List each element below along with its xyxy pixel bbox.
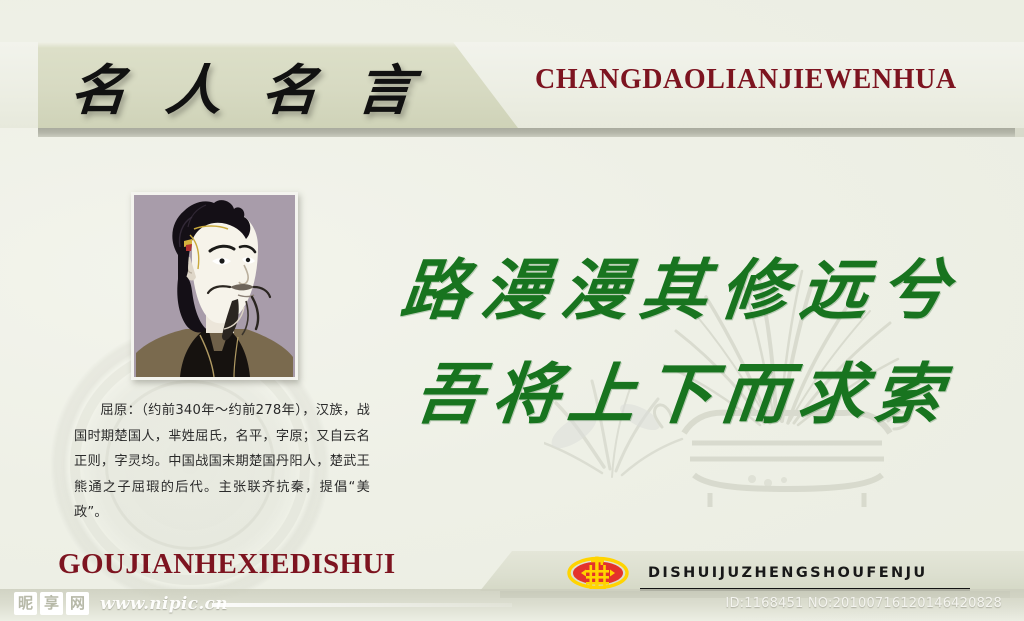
portrait-qu-yuan — [131, 192, 298, 380]
quote1-char-6: 远 — [795, 238, 873, 342]
page-title: 名 人 名 言 — [72, 46, 412, 124]
quote-line-1: 路 漫 漫 其 修 远 兮 — [402, 238, 947, 342]
watermark-char-1: 昵 — [14, 592, 37, 615]
quote2-char-3: 上 — [563, 342, 641, 446]
quote-block: 路 漫 漫 其 修 远 兮 吾 将 上 下 而 求 索 — [402, 238, 947, 446]
quote2-char-5: 而 — [716, 342, 794, 446]
biography-text: 屈原：（约前340年～约前278年），汉族，战国时期楚国人，芈姓屈氏，名平，字原… — [74, 398, 370, 526]
quote2-char-4: 下 — [639, 342, 717, 446]
quote1-char-5: 修 — [715, 238, 793, 342]
watermark-char-3: 网 — [66, 592, 89, 615]
quote1-char-3: 漫 — [556, 238, 634, 342]
header-pinyin: CHANGDAOLIANJIEWENHUA — [535, 64, 957, 96]
quote2-char-6: 求 — [792, 342, 870, 446]
quote2-char-7: 索 — [869, 342, 947, 446]
title-char-4: 言 — [354, 46, 416, 125]
tax-bureau-emblem-icon — [567, 556, 629, 590]
watermark-char-2: 享 — [40, 592, 63, 615]
quote1-char-4: 其 — [635, 238, 713, 342]
footer-organization-pinyin: DISHUIJUZHENGSHOUFENJU — [648, 565, 928, 581]
title-char-2: 人 — [163, 46, 225, 125]
quote2-char-2: 将 — [486, 342, 564, 446]
header-bar-shadow — [38, 128, 1024, 137]
footer-pinyin: GOUJIANHEXIEDISHUI — [58, 548, 396, 581]
watermark-id-text: ID:1168451 NO:20100716120146420828 — [725, 596, 1002, 611]
watermark-url: www.nipic.cn — [100, 594, 228, 614]
watermark-site-logo: 昵 享 网 — [14, 592, 89, 615]
quote1-char-2: 漫 — [476, 238, 554, 342]
title-char-1: 名 — [68, 46, 130, 125]
poster-canvas: 名 人 名 言 CHANGDAOLIANJIEWENHUA — [0, 0, 1024, 621]
quote2-char-1: 吾 — [410, 342, 488, 446]
title-char-3: 名 — [259, 46, 321, 125]
watermark-rule — [212, 603, 512, 607]
quote1-char-1: 路 — [396, 238, 474, 342]
quote-line-2: 吾 将 上 下 而 求 索 — [402, 342, 947, 446]
quote1-char-7: 兮 — [875, 238, 953, 342]
